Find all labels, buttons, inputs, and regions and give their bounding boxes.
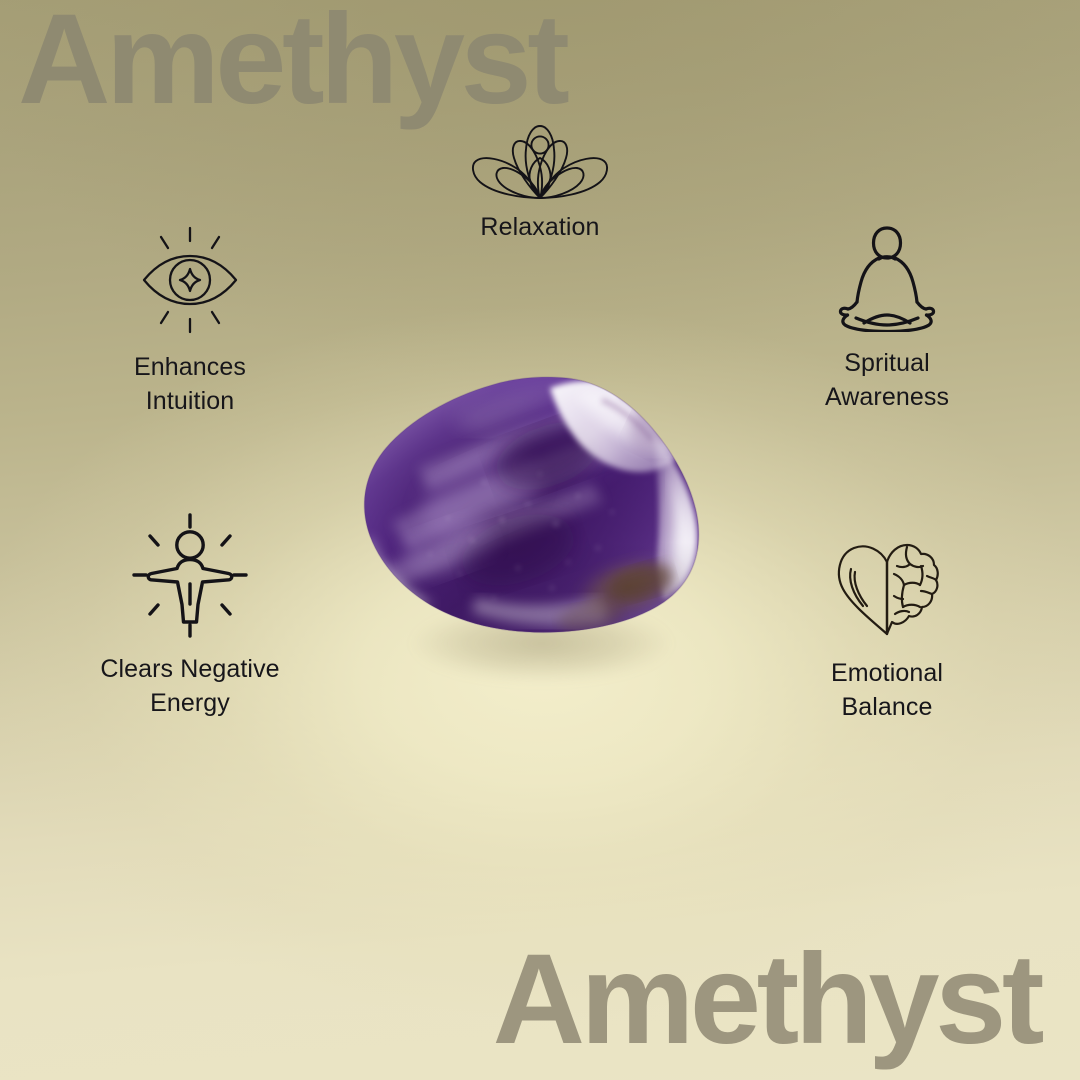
page-title-bottom: Amethyst	[493, 936, 1040, 1064]
lotus-icon	[466, 118, 614, 202]
benefit-spiritual-awareness: Spritual Awareness	[737, 222, 1037, 414]
benefit-label: Enhances Intuition	[134, 350, 246, 418]
amethyst-stone-image	[352, 372, 716, 664]
benefit-emotional-balance: Emotional Balance	[737, 536, 1037, 724]
benefit-relaxation: Relaxation	[390, 118, 690, 244]
benefit-label-text: Relaxation	[480, 213, 599, 241]
benefit-label: Relaxation	[480, 210, 599, 244]
benefit-intuition: Enhances Intuition	[40, 224, 340, 418]
benefit-label-line-1: Emotional	[831, 659, 943, 687]
heart-brain-icon	[831, 536, 943, 642]
benefit-label-line-2: Balance	[841, 693, 932, 721]
benefit-label-line-1: Spritual	[844, 349, 930, 377]
page-title-top: Amethyst	[18, 0, 565, 124]
third-eye-icon	[131, 224, 249, 336]
benefit-label-line-2: Awareness	[825, 383, 949, 411]
meditation-lotus-pose-icon	[826, 222, 948, 332]
benefit-label: Clears Negative Energy	[100, 652, 279, 720]
benefit-label-line-2: Intuition	[146, 387, 234, 415]
benefit-clears-negative-energy: Clears Negative Energy	[40, 512, 340, 720]
benefit-label: Emotional Balance	[831, 656, 943, 724]
benefit-label-line-2: Energy	[150, 689, 230, 717]
benefit-label-line-1: Enhances	[134, 353, 246, 381]
benefit-label-line-1: Clears Negative	[100, 655, 279, 683]
amethyst-infographic-poster: Amethyst	[0, 0, 1080, 1080]
benefit-label: Spritual Awareness	[825, 346, 949, 414]
radiating-person-icon	[126, 512, 254, 638]
